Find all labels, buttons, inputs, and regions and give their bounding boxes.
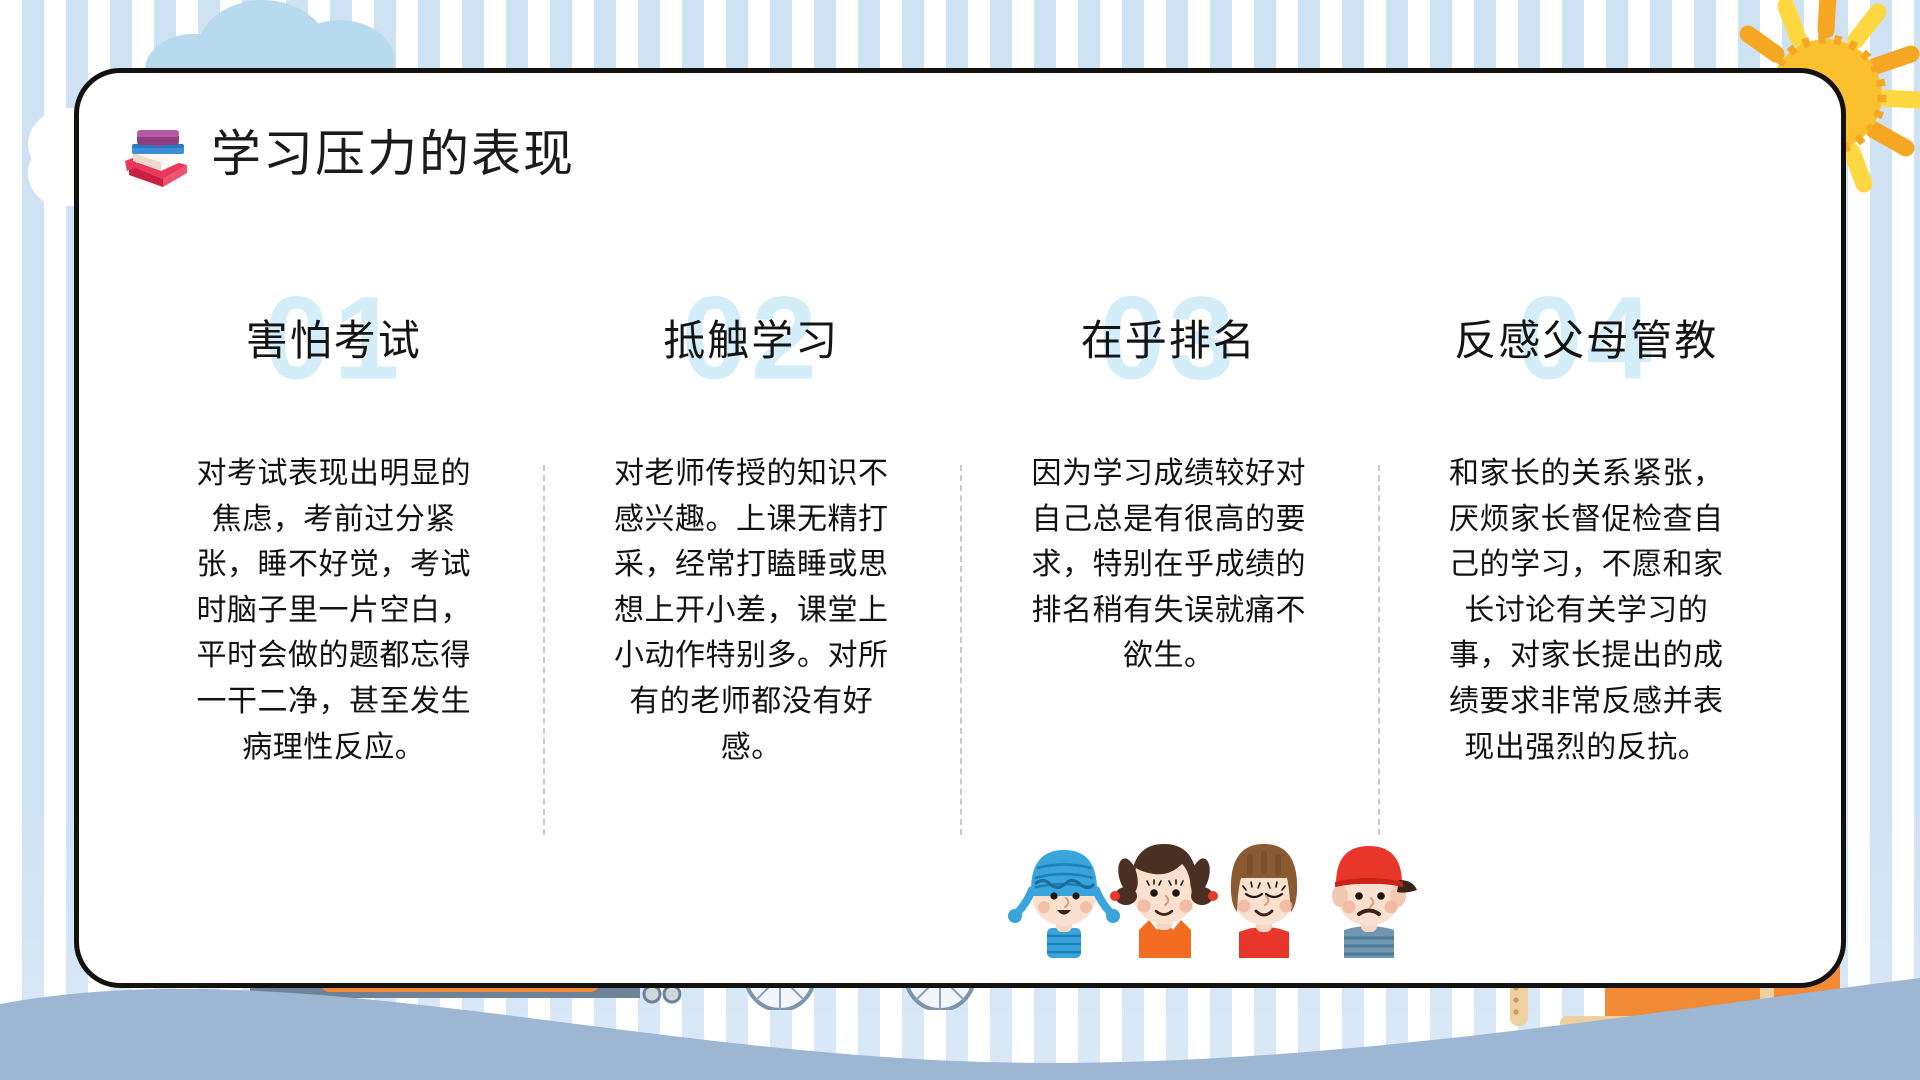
column-01: 01 害怕考试 对考试表现出明显的焦虑，考前过分紧张，睡不好觉，考试时脑子里一片… [125, 273, 543, 770]
girl-with-brown-bob [1231, 844, 1297, 958]
column-04-header: 04 反感父母管教 [1400, 273, 1774, 409]
column-02: 02 抵触学习 对老师传授的知识不感兴趣。上课无精打采，经常打瞌睡或思想上开小差… [543, 273, 961, 770]
column-02-title: 抵触学习 [663, 320, 839, 362]
column-02-body: 对老师传授的知识不感兴趣。上课无精打采，经常打瞌睡或思想上开小差，课堂上小动作特… [601, 451, 901, 770]
column-01-title: 害怕考试 [246, 320, 422, 362]
column-02-header: 02 抵触学习 [565, 273, 939, 409]
column-03-title: 在乎排名 [1081, 320, 1257, 362]
columns-container: 01 害怕考试 对考试表现出明显的焦虑，考前过分紧张，睡不好觉，考试时脑子里一片… [125, 273, 1795, 770]
boy-with-red-cap [1332, 846, 1417, 958]
boy-with-blue-winter-hat [1008, 850, 1120, 958]
column-04: 04 反感父母管教 和家长的关系紧张，厌烦家长督促检查自己的学习，不愿和家长讨论… [1378, 273, 1796, 770]
column-03-body: 因为学习成绩较好对自己总是有很高的要求，特别在乎成绩的排名稍有失误就痛不欲生。 [1019, 451, 1319, 679]
column-03-header: 03 在乎排名 [982, 273, 1356, 409]
column-04-body: 和家长的关系紧张，厌烦家长督促检查自己的学习，不愿和家长讨论有关学习的事，对家长… [1436, 451, 1736, 770]
page-title-row: 学习压力的表现 [119, 121, 575, 187]
content-card: 学习压力的表现 01 害怕考试 对考试表现出明显的焦虑，考前过分紧张，睡不好觉，… [74, 68, 1846, 988]
girl-with-pigtails [1110, 844, 1218, 958]
column-03: 03 在乎排名 因为学习成绩较好对自己总是有很高的要求，特别在乎成绩的排名稍有失… [960, 273, 1378, 770]
page-title: 学习压力的表现 [211, 129, 575, 179]
slide-root: 学习压力的表现 01 害怕考试 对考试表现出明显的焦虑，考前过分紧张，睡不好觉，… [0, 0, 1920, 1080]
column-04-title: 反感父母管教 [1454, 320, 1718, 362]
column-01-header: 01 害怕考试 [147, 273, 521, 409]
four-children-illustration [999, 780, 1469, 965]
column-01-body: 对考试表现出明显的焦虑，考前过分紧张，睡不好觉，考试时脑子里一片空白，平时会做的… [184, 451, 484, 770]
stacked-books-icon [119, 121, 193, 187]
